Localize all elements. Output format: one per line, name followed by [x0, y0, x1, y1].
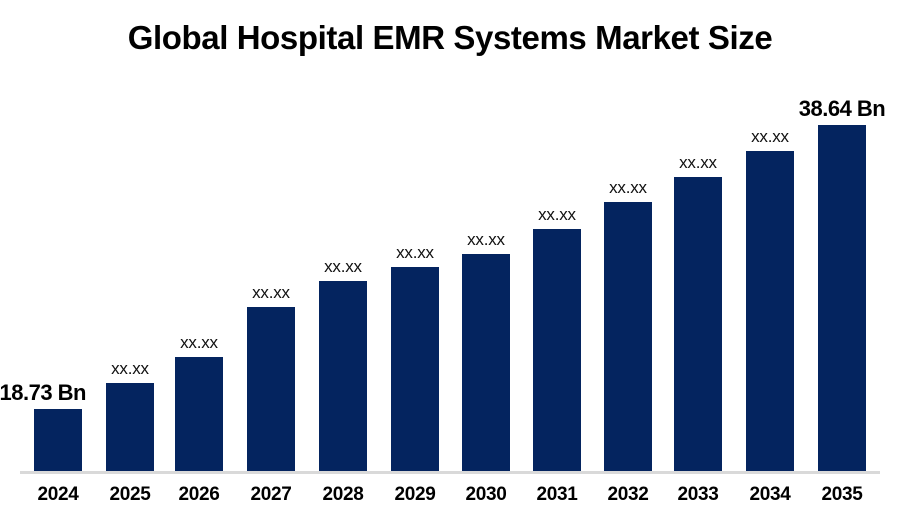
- bar-value-label-2030: xx.xx: [467, 230, 505, 250]
- bar-2030[interactable]: [462, 254, 510, 471]
- bar-2029[interactable]: [391, 267, 439, 471]
- bar-value-label-2033: xx.xx: [679, 153, 717, 173]
- bar-2026[interactable]: [175, 357, 223, 471]
- chart-container: Global Hospital EMR Systems Market Size …: [0, 0, 900, 525]
- bar-value-label-2026: xx.xx: [180, 333, 218, 353]
- bar-value-label-2031: xx.xx: [538, 205, 576, 225]
- category-label-2026: 2026: [159, 480, 239, 510]
- category-label-2029: 2029: [375, 480, 455, 510]
- bar-2033[interactable]: [674, 177, 722, 471]
- category-label-2033: 2033: [658, 480, 738, 510]
- category-label-2034: 2034: [730, 480, 810, 510]
- bar-value-label-2025: xx.xx: [111, 359, 149, 379]
- bar-value-label-2032: xx.xx: [609, 178, 647, 198]
- category-label-2027: 2027: [231, 480, 311, 510]
- bar-value-label-2028: xx.xx: [324, 257, 362, 277]
- bar-value-label-2027: xx.xx: [252, 283, 290, 303]
- bar-value-label-2034: xx.xx: [751, 127, 789, 147]
- bar-value-label-2024: 18.73 Bn: [0, 380, 86, 406]
- bar-2031[interactable]: [533, 229, 581, 471]
- bar-value-label-2035: 38.64 Bn: [799, 96, 886, 122]
- category-axis: 2024202520262027202820292030203120322033…: [0, 480, 900, 520]
- category-label-2025: 2025: [90, 480, 170, 510]
- bar-2024[interactable]: [34, 409, 82, 471]
- bar-2032[interactable]: [604, 202, 652, 471]
- category-label-2030: 2030: [446, 480, 526, 510]
- category-label-2031: 2031: [517, 480, 597, 510]
- plot-area: 18.73 Bnxx.xxxx.xxxx.xxxx.xxxx.xxxx.xxxx…: [0, 0, 900, 471]
- x-axis-line: [20, 471, 880, 474]
- bar-2028[interactable]: [319, 281, 367, 471]
- category-label-2028: 2028: [303, 480, 383, 510]
- bar-2034[interactable]: [746, 151, 794, 471]
- category-label-2035: 2035: [802, 480, 882, 510]
- category-label-2032: 2032: [588, 480, 668, 510]
- bar-2035[interactable]: [818, 125, 866, 471]
- category-label-2024: 2024: [18, 480, 98, 510]
- bar-value-label-2029: xx.xx: [396, 243, 434, 263]
- bar-2025[interactable]: [106, 383, 154, 471]
- bar-2027[interactable]: [247, 307, 295, 471]
